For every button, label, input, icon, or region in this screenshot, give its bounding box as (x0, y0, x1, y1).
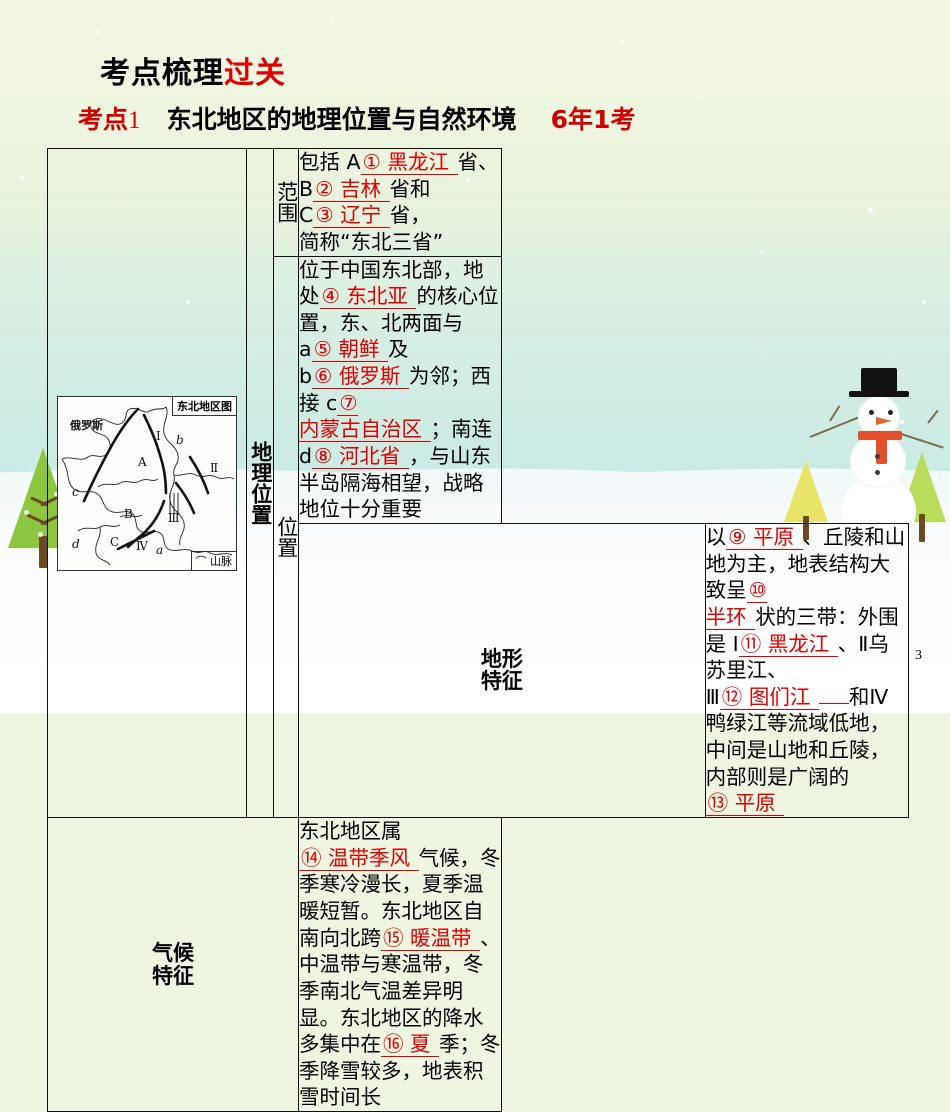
northeast-china-map: 东北地区图 ⌒ 山脉 (57, 396, 237, 571)
blank-16: ⑯ 夏 (381, 1032, 439, 1057)
map-label-III: Ⅲ (168, 511, 180, 525)
position-content-text: 位于中国东北部，地处④ 东北亚 的核心位置，东、北两面与 a⑤ 朝鲜 及 b⑥ … (299, 257, 501, 523)
row-label-climate-text: 气候特征 (149, 942, 197, 987)
sub-label-position: 位置 (274, 256, 299, 817)
map-label-II: Ⅱ (210, 461, 218, 475)
map-label-c: c (72, 485, 79, 499)
section-heading-black: 考点梳理 (100, 56, 224, 91)
scope-content-cell: 包括 A① 黑龙江 省、 B② 吉林 省和 C③ 辽宁 省，简称“东北三省” (299, 149, 502, 257)
section-heading-red: 过关 (224, 56, 286, 91)
map-label-I: Ⅰ (156, 429, 161, 443)
blank-11: ⑪ 黑龙江 (739, 632, 838, 657)
blank-12-tail (819, 703, 849, 704)
table-row-climate: 气候特征 东北地区属⑭ 温带季风 气候，冬季寒冷漫长，夏季温暖短暂。东北地区自南… (48, 818, 909, 1112)
row-label-geography: 地理位置 (247, 149, 274, 818)
kaodian-number: 1 (128, 107, 141, 134)
blank-2: ② 吉林 (313, 177, 389, 202)
map-label-A: A (138, 455, 147, 469)
sub-label-scope-text: 范围 (275, 181, 296, 223)
landform-content-cell: 以⑨ 平原 、丘陵和山地为主，地表结构大致呈⑩半环 状的三带：外围是 Ⅰ⑪ 黑龙… (705, 523, 908, 817)
map-label-a: a (156, 543, 163, 557)
blank-6: ⑥ 俄罗斯 (312, 364, 409, 389)
blank-8: ⑧ 河北省 (312, 444, 409, 469)
blank-4: ④ 东北亚 (320, 284, 417, 309)
climate-content-text: 东北地区属⑭ 温带季风 气候，冬季寒冷漫长，夏季温暖短暂。东北地区自南向北跨⑮ … (299, 818, 501, 1111)
sub-label-scope: 范围 (274, 149, 299, 257)
landform-content-text: 以⑨ 平原 、丘陵和山地为主，地表结构大致呈⑩半环 状的三带：外围是 Ⅰ⑪ 黑龙… (706, 524, 908, 817)
map-label-IV: Ⅳ (136, 539, 148, 553)
row-label-landform-text: 地形特征 (478, 648, 526, 693)
row-label-landform: 地形特征 (299, 523, 706, 817)
position-content-cell: 位于中国东北部，地处④ 东北亚 的核心位置，东、北两面与 a⑤ 朝鲜 及 b⑥ … (299, 256, 502, 523)
blank-14: ⑭ 温带季风 (299, 846, 419, 871)
sub-label-position-text: 位置 (275, 516, 296, 558)
topic-title: 东北地区的地理位置与自然环境 (167, 105, 517, 134)
blank-3: ③ 辽宁 (313, 203, 389, 228)
exam-frequency-badge: 6年1考 (551, 105, 636, 134)
kaodian-label: 考点 (78, 105, 128, 134)
blank-13: ⑬ 平原 (706, 791, 785, 816)
map-label-russia: 俄罗斯 (70, 417, 103, 433)
blank-12: ⑫ 图们江 (720, 685, 819, 710)
knowledge-table: 东北地区图 ⌒ 山脉 (47, 148, 909, 1112)
scope-content-text: 包括 A① 黑龙江 省、 B② 吉林 省和 C③ 辽宁 省，简称“东北三省” (299, 149, 501, 256)
blank-15: ⑮ 暖温带 (381, 926, 480, 951)
blank-9: ⑨ 平原 (726, 525, 802, 550)
page-number: 3 (915, 648, 922, 664)
map-figure-cell: 东北地区图 ⌒ 山脉 (48, 149, 247, 818)
page-title: 考点1 东北地区的地理位置与自然环境6年1考 (78, 100, 635, 136)
map-label-d: d (72, 537, 80, 551)
blank-5: ⑤ 朝鲜 (312, 337, 388, 362)
map-label-B: B (124, 507, 133, 521)
map-label-b: b (176, 433, 184, 447)
map-label-C: C (110, 535, 119, 549)
table-row-scope: 东北地区图 ⌒ 山脉 (48, 149, 909, 257)
blank-1: ① 黑龙江 (361, 150, 458, 175)
climate-content-cell: 东北地区属⑭ 温带季风 气候，冬季寒冷漫长，夏季温暖短暂。东北地区自南向北跨⑮ … (299, 818, 502, 1112)
row-label-geography-text: 地理位置 (249, 441, 270, 525)
section-heading: 考点梳理过关 (100, 48, 286, 92)
row-label-climate: 气候特征 (48, 818, 299, 1112)
